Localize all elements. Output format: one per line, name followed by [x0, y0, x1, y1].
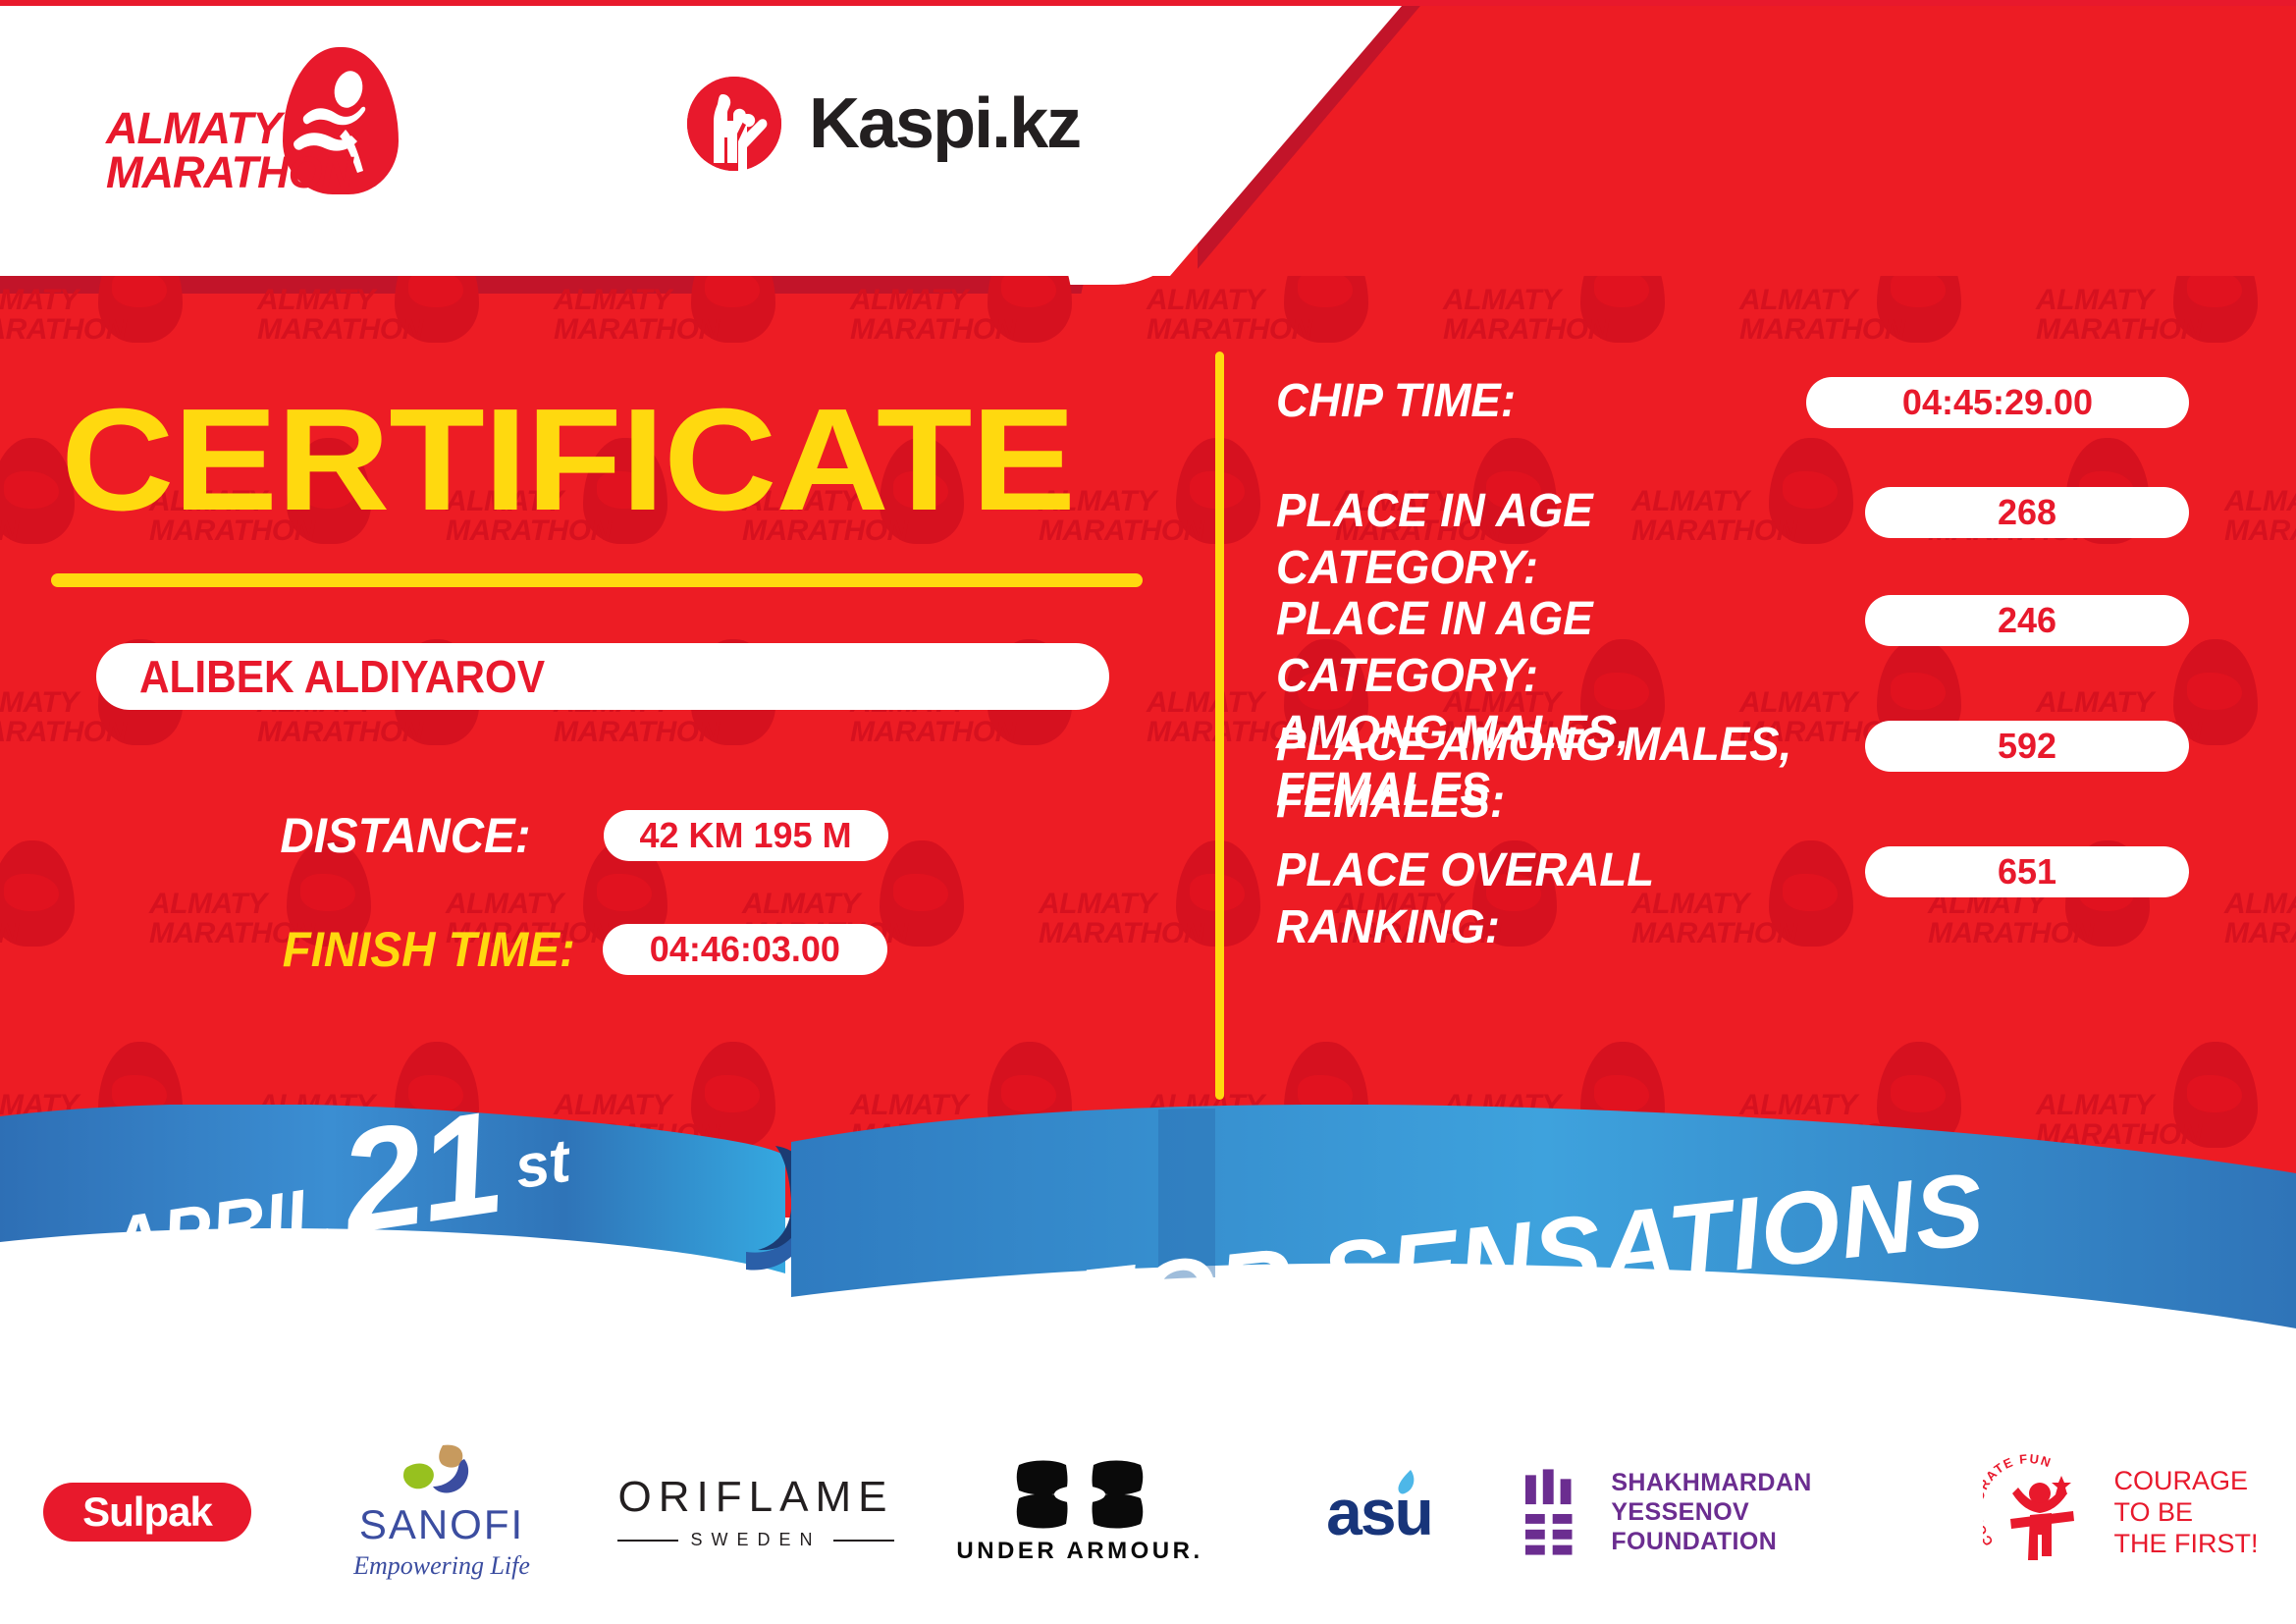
sponsor-sulpak: Sulpak	[0, 1483, 294, 1542]
sponsor-bar: Sulpak SANOFI Empowering Life ORIFLAME S…	[0, 1419, 2296, 1605]
athlete-name-plate: ALIBEK ALDIYAROV	[96, 643, 1109, 710]
sponsor-under-armour: UNDER ARMOUR.	[923, 1459, 1237, 1565]
stat-value: 651	[1865, 846, 2189, 897]
stat-label: PLACE AMONG MALES, FEMALES:	[1276, 717, 1798, 831]
oriflame-wordmark: ORIFLAME	[618, 1474, 894, 1521]
oriflame-tagline-row: SWEDEN	[617, 1530, 893, 1550]
athlete-name: ALIBEK ALDIYAROV	[139, 650, 545, 703]
oriflame-tagline: SWEDEN	[690, 1530, 821, 1550]
stat-value: 592	[1865, 721, 2189, 772]
sanofi-tagline: Empowering Life	[353, 1551, 530, 1581]
under-armour-wordmark: UNDER ARMOUR.	[956, 1538, 1202, 1565]
finish-time-label: FINISH TIME:	[283, 921, 575, 978]
stat-label: CHIP TIME:	[1276, 373, 1761, 430]
sponsor-oriflame: ORIFLAME SWEDEN	[589, 1474, 923, 1550]
kaspi-wordmark: Kaspi.kz	[809, 88, 1080, 159]
courage-line-1: COURAGE	[2114, 1465, 2259, 1496]
logo-line-2: MARATHON	[106, 150, 302, 194]
kaspi-circle-icon	[687, 77, 781, 171]
almaty-marathon-wordmark: ALMATY MARATHON	[106, 106, 302, 194]
sponsor-asu: asu	[1237, 1480, 1522, 1544]
stat-label: PLACE OVERALL RANKING:	[1276, 842, 1817, 956]
courage-line-2: TO BE	[2114, 1496, 2259, 1528]
distance-value: 42 KM 195 M	[604, 810, 888, 861]
finish-time-value: 04:46:03.00	[603, 924, 887, 975]
certificate-canvas: ALMATYMARATHONALMATYMARATHONALMATYMARATH…	[0, 0, 2296, 1624]
finish-time-row: FINISH TIME: 04:46:03.00	[267, 921, 915, 978]
vertical-divider	[1215, 352, 1224, 1100]
courage-line-3: THE FIRST!	[2114, 1528, 2259, 1559]
title-underline	[51, 573, 1143, 587]
yessenov-line-1: SHAKHMARDAN YESSENOV	[1611, 1468, 1953, 1527]
yessenov-line-2: FOUNDATION	[1611, 1527, 1953, 1556]
oriflame-rule-right	[833, 1540, 894, 1542]
under-armour-icon	[1011, 1459, 1148, 1530]
ribbon-day: 21	[334, 1102, 507, 1245]
stat-value: 246	[1865, 595, 2189, 646]
sponsor-yessenov-foundation: SHAKHMARDAN YESSENOV FOUNDATION	[1522, 1468, 1953, 1556]
kaspi-logo: Kaspi.kz	[687, 77, 1080, 171]
logo-line-1: ALMATY	[106, 106, 302, 150]
distance-row: DISTANCE: 42 KM 195 M	[267, 807, 915, 864]
page-title: CERTIFICATE	[61, 388, 1075, 533]
sponsor-corporate-fund: CORPORATE FUND COURAGE TO BE THE FIRST!	[1953, 1454, 2287, 1570]
stat-value: 268	[1865, 487, 2189, 538]
sanofi-wordmark: SANOFI	[359, 1502, 524, 1547]
sponsor-sanofi: SANOFI Empowering Life	[294, 1443, 589, 1581]
sanofi-mark-icon	[400, 1443, 484, 1502]
almaty-marathon-logo: ALMATY MARATHON	[106, 47, 420, 175]
yessenov-bars-icon	[1522, 1469, 1585, 1555]
distance-label: DISTANCE:	[280, 807, 530, 864]
sulpak-logo: Sulpak	[43, 1483, 251, 1542]
courage-runner-icon: CORPORATE FUND	[1983, 1454, 2099, 1570]
asu-droplet-icon	[1387, 1468, 1420, 1501]
oriflame-rule-left	[617, 1540, 678, 1542]
stat-value: 04:45:29.00	[1806, 377, 2189, 428]
stat-label: PLACE IN AGE CATEGORY:	[1276, 483, 1817, 597]
